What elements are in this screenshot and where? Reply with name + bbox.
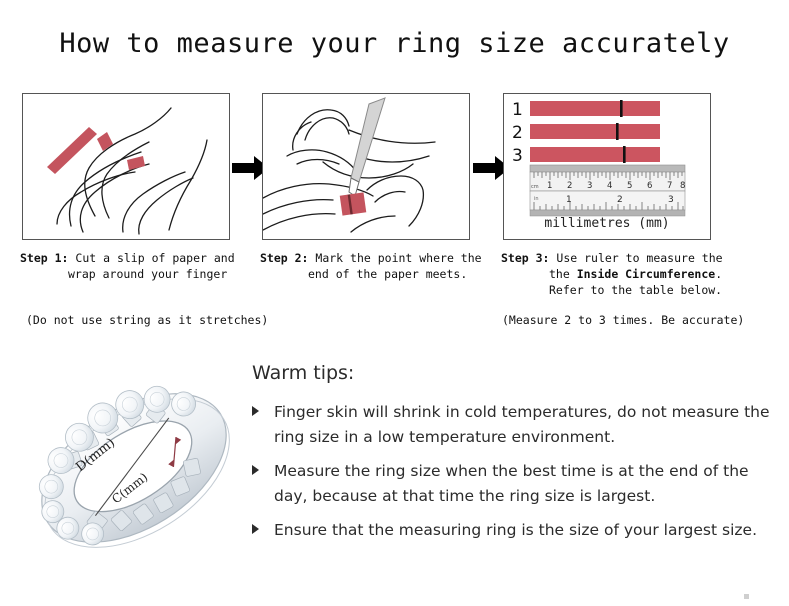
step-1-note: (Do not use string as it stretches) [26, 313, 268, 327]
svg-text:3: 3 [587, 181, 592, 191]
ring-diagram: D(mm) C(mm) [18, 352, 250, 584]
step-2-line2: end of the paper meets. [260, 266, 492, 282]
svg-text:3: 3 [668, 195, 674, 205]
warm-tip-item: Finger skin will shrink in cold temperat… [252, 400, 772, 450]
paper-strip-marked-shape [340, 192, 367, 215]
svg-text:1: 1 [547, 181, 552, 191]
step-3-line1: Use ruler to measure the [556, 251, 722, 265]
warm-tips-panel: Warm tips: Finger skin will shrink in co… [252, 362, 772, 552]
step-1-line1: Cut a slip of paper and [75, 251, 234, 265]
strip-number-3: 3 [512, 146, 523, 166]
svg-text:in: in [534, 196, 539, 202]
warm-tip-text: Measure the ring size when the best time… [274, 462, 749, 505]
warm-tips-heading: Warm tips: [252, 362, 772, 384]
step-2-label: Step 2: [260, 251, 308, 265]
step-2-line1: Mark the point where the [315, 251, 481, 265]
step-1-line2: wrap around your finger [20, 266, 252, 282]
step-1-label: Step 1: [20, 251, 68, 265]
ruler-unit-label: millimetres (mm) [504, 216, 710, 231]
paper-strip-shape [47, 127, 145, 174]
bullet-triangle-icon [252, 465, 259, 475]
step-3-line2-post: . [715, 267, 722, 281]
strip-number-1: 1 [512, 100, 523, 120]
warm-tip-text: Ensure that the measuring ring is the si… [274, 521, 757, 539]
eternity-ring-icon: D(mm) C(mm) [18, 352, 250, 584]
ruler-shape: 123 456 78 cm 123 in [530, 165, 685, 216]
svg-text:8: 8 [680, 181, 685, 191]
hand-with-paper-strip-icon [23, 94, 229, 239]
steps-row: 1 2 3 [0, 93, 789, 243]
step-3-note: (Measure 2 to 3 times. Be accurate) [502, 313, 744, 327]
step-3-line2-pre: the [549, 267, 577, 281]
svg-text:1: 1 [566, 195, 572, 205]
step-1-illustration-box [22, 93, 230, 240]
strip-number-2: 2 [512, 123, 523, 143]
svg-text:5: 5 [627, 181, 632, 191]
step-3-line2: the Inside Circumference. [501, 266, 751, 282]
svg-text:2: 2 [617, 195, 623, 205]
svg-text:2: 2 [567, 181, 572, 191]
step-3-inside-circumference: Inside Circumference [577, 267, 715, 281]
step-2-illustration-box [262, 93, 470, 240]
bullet-triangle-icon [252, 524, 259, 534]
warm-tip-item: Measure the ring size when the best time… [252, 459, 772, 509]
step-3-illustration-box: 1 2 3 [503, 93, 711, 240]
step-1-caption: Step 1: Cut a slip of paper and wrap aro… [20, 250, 252, 282]
hand-marking-paper-with-pen-icon [263, 94, 469, 239]
svg-text:4: 4 [607, 181, 612, 191]
step-3-line3: Refer to the table below. [501, 282, 751, 298]
bullet-triangle-icon [252, 406, 259, 416]
svg-text:6: 6 [647, 181, 652, 191]
step-2-caption: Step 2: Mark the point where the end of … [260, 250, 492, 282]
corner-artifact [744, 594, 749, 599]
svg-text:7: 7 [667, 181, 672, 191]
page-title: How to measure your ring size accurately [0, 28, 789, 59]
step-3-label: Step 3: [501, 251, 549, 265]
step-3-caption: Step 3: Use ruler to measure the the Ins… [501, 250, 751, 298]
svg-text:cm: cm [531, 184, 539, 190]
warm-tip-text: Finger skin will shrink in cold temperat… [274, 403, 770, 446]
warm-tip-item: Ensure that the measuring ring is the si… [252, 518, 772, 543]
